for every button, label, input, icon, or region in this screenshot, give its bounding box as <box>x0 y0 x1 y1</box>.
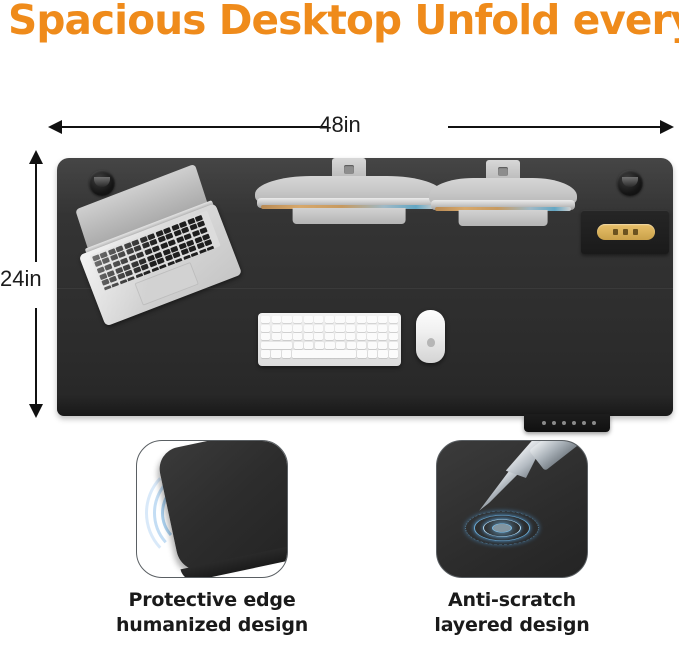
magic-mouse <box>416 310 445 363</box>
arrow-head-left-icon <box>48 120 62 134</box>
knife-handle <box>529 440 581 471</box>
monitor-left-base <box>293 208 406 224</box>
feature-caption-line-2: humanized design <box>82 613 342 638</box>
monitor-right <box>429 160 577 228</box>
desk-front-shadow <box>57 394 673 416</box>
feature-anti-scratch: Anti-scratch layered design <box>382 440 642 638</box>
feature-protective-edge-caption: Protective edge humanized design <box>82 588 342 638</box>
height-control-keypad[interactable] <box>524 414 610 432</box>
depth-dimension-label: 24in <box>0 264 60 294</box>
feature-caption-line-1: Anti-scratch <box>382 588 642 613</box>
power-strip <box>581 210 669 254</box>
feature-caption-line-2: layered design <box>382 613 642 638</box>
feature-protective-edge: Protective edge humanized design <box>82 440 342 638</box>
cable-grommet-left-icon <box>89 170 115 196</box>
feature-anti-scratch-image <box>436 440 588 578</box>
arrow-head-right-icon <box>660 120 674 134</box>
utility-knife-icon <box>479 447 588 543</box>
feature-panels: Protective edge humanized design Anti-sc… <box>0 440 679 652</box>
power-strip-outlets <box>597 224 655 240</box>
feature-caption-line-1: Protective edge <box>82 588 342 613</box>
arrow-head-down-icon <box>29 404 43 418</box>
feature-anti-scratch-caption: Anti-scratch layered design <box>382 588 642 638</box>
width-dimension-label: 48in <box>277 110 403 140</box>
cable-grommet-right-icon <box>617 170 643 196</box>
desk-surface <box>57 158 673 416</box>
arrow-head-up-icon <box>29 150 43 164</box>
monitor-left <box>255 158 443 228</box>
page-title: Spacious Desktop Unfold everything <box>8 0 667 44</box>
infographic-root: Spacious Desktop Unfold everything 48in … <box>0 0 679 652</box>
magic-keyboard <box>258 313 401 366</box>
feature-protective-edge-image <box>136 440 288 578</box>
monitor-right-base <box>459 210 548 226</box>
